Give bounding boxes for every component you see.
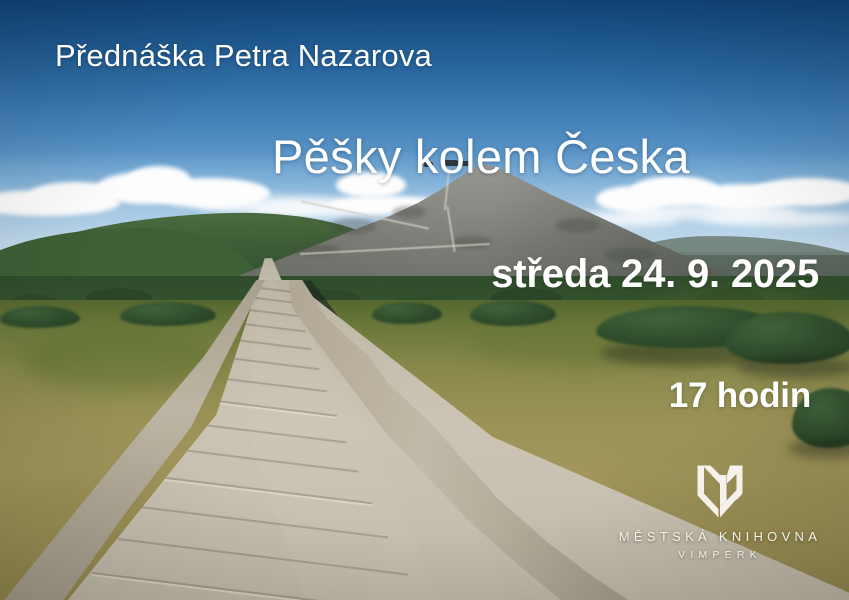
logo-organization-name: MĚSTSKÁ KNIHOVNA bbox=[619, 529, 821, 544]
mestska-knihovna-vimperk-monogram-icon bbox=[694, 462, 746, 520]
event-date: středa 24. 9. 2025 bbox=[491, 252, 819, 297]
library-logo: MĚSTSKÁ KNIHOVNA VIMPERK bbox=[600, 462, 840, 567]
rock-patch bbox=[330, 218, 376, 234]
event-time: 17 hodin bbox=[669, 376, 811, 416]
cloud bbox=[700, 212, 849, 226]
rock-patch bbox=[392, 206, 426, 218]
lecture-kicker: Přednáška Petra Nazarova bbox=[55, 38, 432, 74]
event-poster: Přednáška Petra Nazarova Pěšky kolem Čes… bbox=[0, 0, 849, 600]
logo-city-name: VIMPERK bbox=[678, 549, 762, 561]
rock-patch bbox=[556, 218, 600, 233]
poster-title: Pěšky kolem Česka bbox=[272, 129, 690, 184]
